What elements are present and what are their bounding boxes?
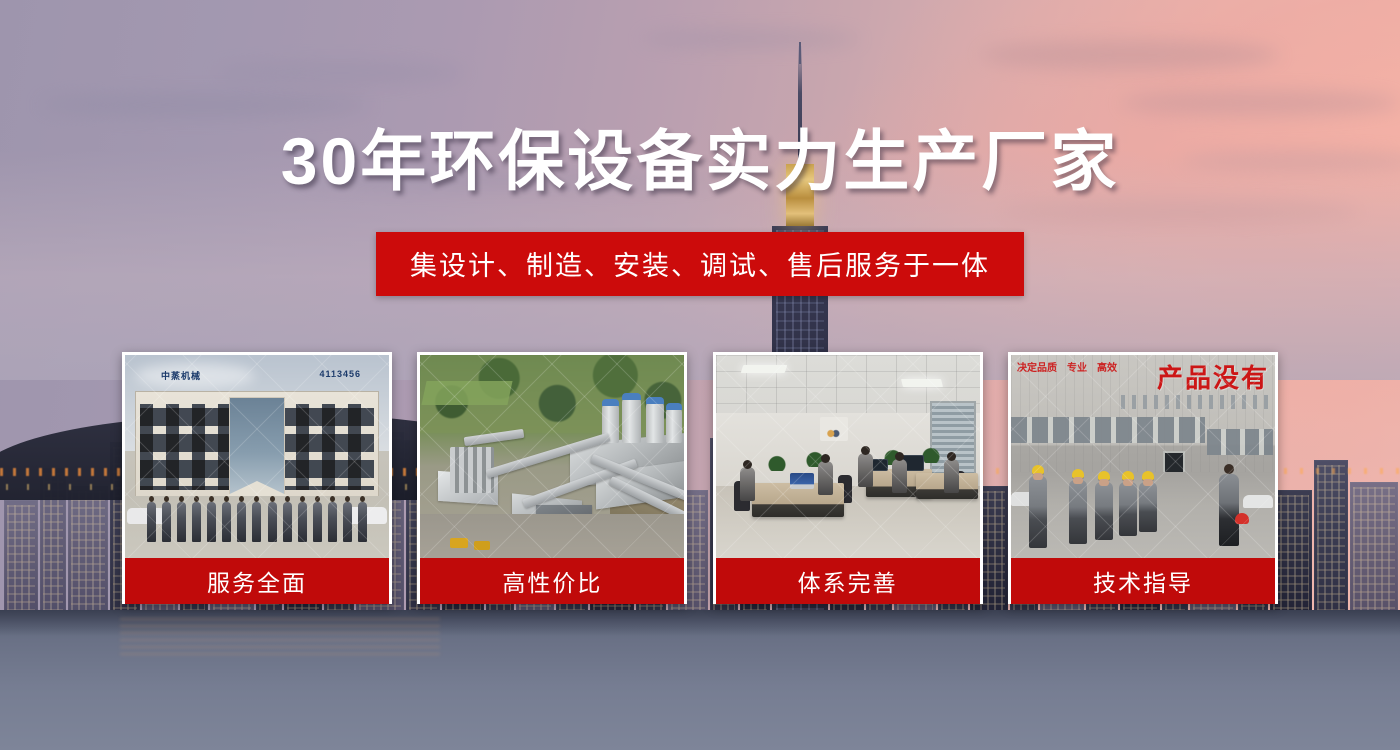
feature-card[interactable]: 决定品质 专业 高效 产品没有	[1008, 352, 1278, 604]
page-title: 30年环保设备实力生产厂家	[0, 128, 1400, 194]
worker	[1139, 482, 1157, 532]
worker	[1069, 480, 1087, 544]
feature-card-list: 中蒸机械 4113456 服务全面	[122, 352, 1278, 604]
supervisor	[1219, 474, 1239, 546]
hero-banner: 30年环保设备实力生产厂家 集设计、制造、安装、调试、售后服务于一体 中蒸机械 …	[0, 0, 1400, 750]
worker	[1095, 482, 1113, 540]
worker	[1029, 476, 1047, 548]
cloud	[640, 30, 860, 48]
river	[0, 610, 1400, 750]
card-photo-factory-aerial	[420, 355, 684, 558]
cloud	[1120, 90, 1400, 116]
feature-card[interactable]: 体系完善	[713, 352, 983, 604]
card-caption: 技术指导	[1011, 558, 1275, 604]
card-photo-workers-training: 决定品质 专业 高效 产品没有	[1011, 355, 1275, 558]
subtitle-banner: 集设计、制造、安装、调试、售后服务于一体	[376, 232, 1024, 296]
building-phone-sign: 4113456	[319, 369, 361, 379]
card-photo-office-building: 中蒸机械 4113456	[125, 355, 389, 558]
card-photo-office-interior	[716, 355, 980, 558]
feature-card[interactable]: 高性价比	[417, 352, 687, 604]
card-caption: 体系完善	[716, 558, 980, 604]
cloud	[40, 92, 370, 118]
worker	[1119, 482, 1137, 536]
card-caption: 服务全面	[125, 558, 389, 604]
red-helmet	[1235, 513, 1249, 524]
staff-row	[147, 498, 367, 542]
feature-card[interactable]: 中蒸机械 4113456 服务全面	[122, 352, 392, 604]
building-company-sign: 中蒸机械	[161, 369, 201, 382]
cloud	[980, 40, 1280, 70]
factory-wall-slogan: 产品没有	[1157, 365, 1269, 391]
card-caption: 高性价比	[420, 558, 684, 604]
river-reflection	[120, 618, 440, 658]
cloud	[215, 62, 465, 84]
